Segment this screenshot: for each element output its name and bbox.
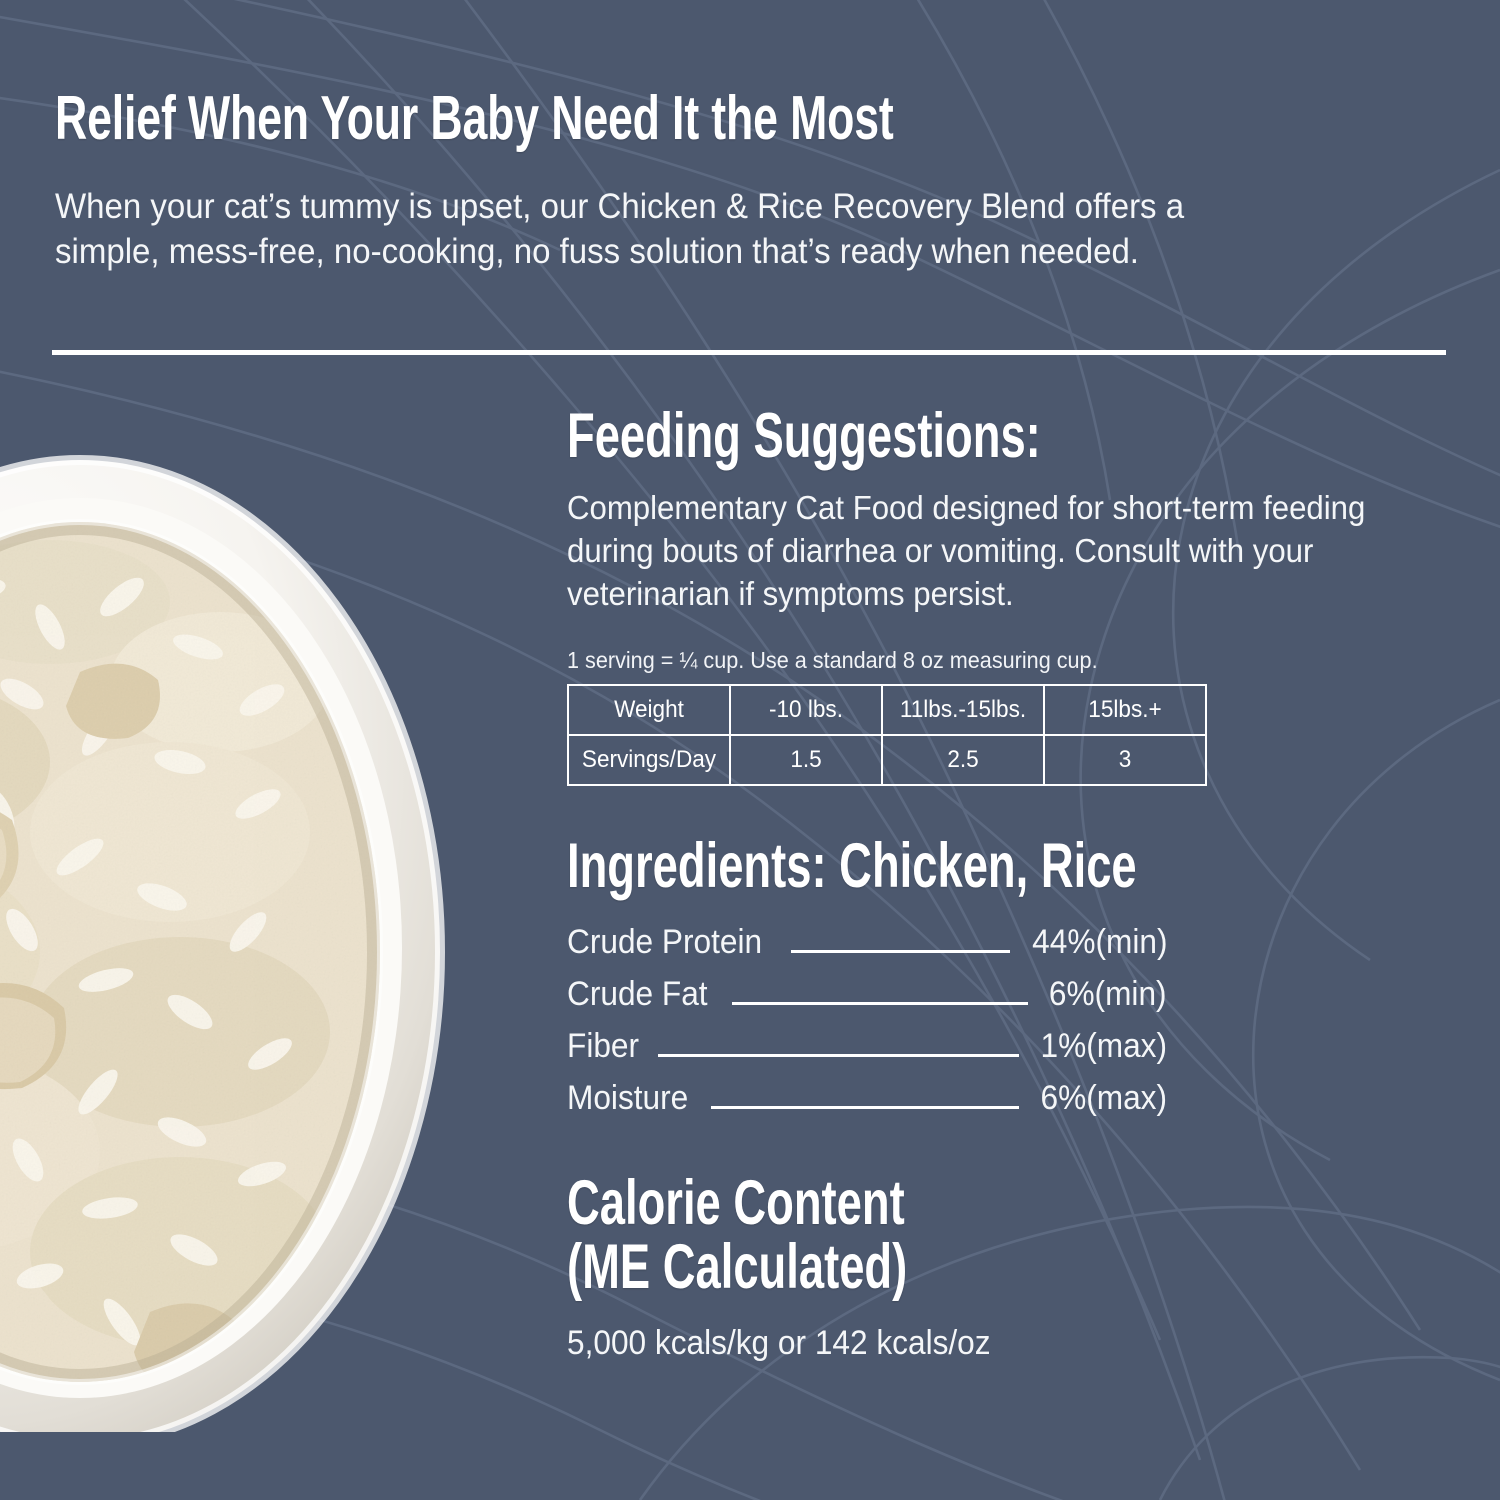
bowl-of-chicken-and-rice-photo: [0, 432, 490, 1432]
leader-line: [732, 1002, 1028, 1005]
table-cell-servings-1: 1.5: [730, 735, 882, 785]
table-row-weight: Weight -10 lbs. 11lbs.-15lbs. 15lbs.+: [568, 685, 1206, 735]
ingredients-heading: Ingredients: Chicken, Rice: [567, 834, 1201, 898]
header-block: Relief When Your Baby Need It the Most W…: [55, 88, 1455, 273]
table-cell-weight-label: Weight: [568, 685, 730, 735]
calorie-heading-line-1: Calorie Content: [567, 1168, 905, 1238]
table-cell-weight-1: -10 lbs.: [730, 685, 882, 735]
analysis-label: Moisture: [567, 1081, 688, 1115]
analysis-row-crude-protein: Crude Protein 44%(min): [567, 925, 1167, 959]
analysis-value: 6%(min): [1049, 977, 1167, 1011]
table-cell-servings-2: 2.5: [882, 735, 1044, 785]
analysis-label: Fiber: [567, 1029, 639, 1063]
feeding-chart-table: Weight -10 lbs. 11lbs.-15lbs. 15lbs.+ Se…: [567, 684, 1207, 786]
table-cell-servings-label: Servings/Day: [568, 735, 730, 785]
analysis-value: 44%(min): [1032, 925, 1167, 959]
table-cell-servings-3: 3: [1044, 735, 1206, 785]
product-infographic: Relief When Your Baby Need It the Most W…: [0, 0, 1500, 1500]
calorie-heading-line-2: (ME Calculated): [567, 1235, 1201, 1299]
calorie-value-text: 5,000 kcals/kg or 142 kcals/oz: [567, 1325, 1385, 1362]
analysis-row-crude-fat: Crude Fat 6%(min): [567, 977, 1167, 1011]
analysis-label: Crude Protein: [567, 925, 762, 959]
horizontal-divider: [52, 350, 1446, 355]
feeding-suggestions-heading: Feeding Suggestions:: [567, 404, 1201, 468]
analysis-value: 6%(max): [1040, 1081, 1167, 1115]
calorie-content-heading: Calorie Content (ME Calculated): [567, 1171, 1201, 1300]
analysis-row-moisture: Moisture 6%(max): [567, 1081, 1167, 1115]
analysis-label: Crude Fat: [567, 977, 708, 1011]
intro-paragraph: When your cat’s tummy is upset, our Chic…: [55, 184, 1264, 273]
guaranteed-analysis-list: Crude Protein 44%(min) Crude Fat 6%(min)…: [567, 925, 1167, 1115]
analysis-row-fiber: Fiber 1%(max): [567, 1029, 1167, 1063]
serving-size-note: 1 serving = ¼ cup. Use a standard 8 oz m…: [567, 647, 1394, 675]
feeding-description: Complementary Cat Food designed for shor…: [567, 488, 1367, 617]
table-cell-weight-3: 15lbs.+: [1044, 685, 1206, 735]
table-cell-weight-2: 11lbs.-15lbs.: [882, 685, 1044, 735]
analysis-value: 1%(max): [1040, 1029, 1167, 1063]
table-row-servings: Servings/Day 1.5 2.5 3: [568, 735, 1206, 785]
leader-line: [791, 950, 1010, 953]
page-title: Relief When Your Baby Need It the Most: [55, 88, 1063, 150]
leader-line: [658, 1054, 1019, 1057]
leader-line: [711, 1106, 1019, 1109]
right-content-column: Feeding Suggestions: Complementary Cat F…: [567, 404, 1447, 1363]
